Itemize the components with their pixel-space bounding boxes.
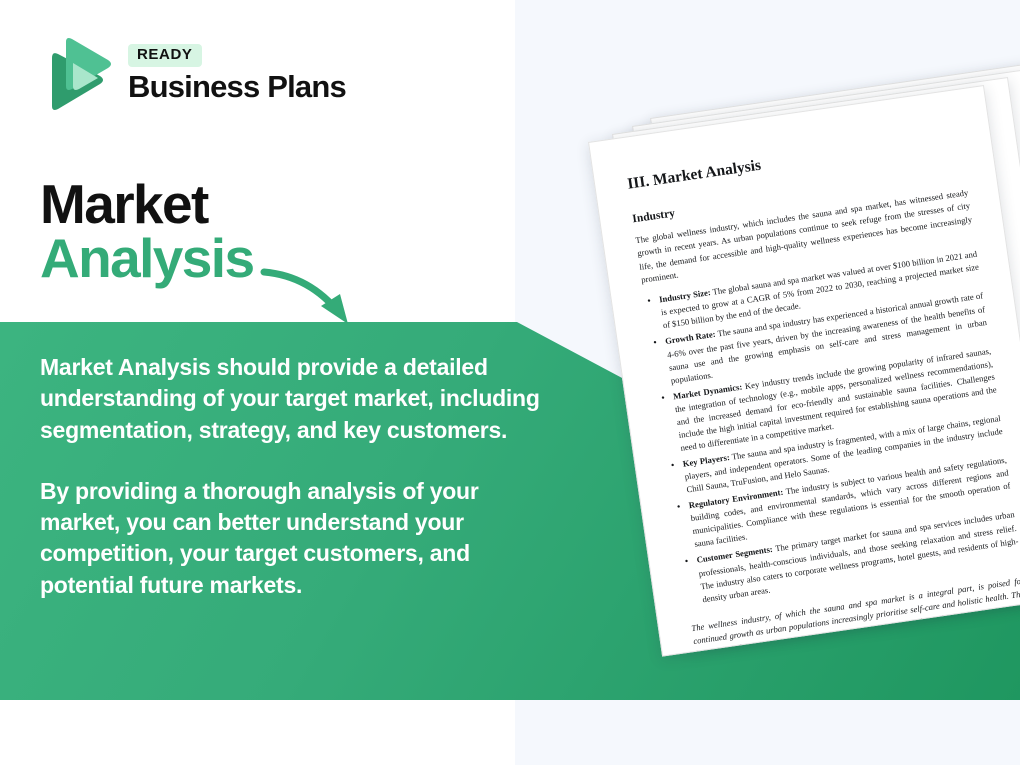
document-stack[interactable]: III. Market Analysis Industry The global… — [560, 100, 1020, 680]
page-title-line-2: Analysis — [40, 232, 253, 286]
panel-description: Market Analysis should provide a detaile… — [40, 352, 560, 601]
curved-arrow-down-right-icon — [258, 262, 368, 332]
page-title-line-1: Market — [40, 178, 253, 232]
slide-canvas: READY Business Plans Market Analysis Mar… — [0, 0, 1020, 765]
doc-target-heading: Target Market — [726, 644, 1020, 649]
brand-name: Business Plans — [128, 71, 346, 104]
document-page-front[interactable]: III. Market Analysis Industry The global… — [588, 85, 1020, 657]
play-triangle-logo-icon — [42, 36, 114, 112]
panel-paragraph-1: Market Analysis should provide a detaile… — [40, 352, 560, 446]
page-title: Market Analysis — [40, 178, 253, 286]
panel-paragraph-2: By providing a thorough analysis of your… — [40, 476, 560, 601]
brand-wordmark: READY Business Plans — [128, 44, 346, 103]
brand-logo[interactable]: READY Business Plans — [42, 36, 346, 112]
doc-target-heading: Target Market — [702, 652, 1020, 657]
ready-badge: READY — [128, 44, 202, 67]
doc-bullet-list: Industry Size: The global sauna and spa … — [644, 248, 1020, 608]
